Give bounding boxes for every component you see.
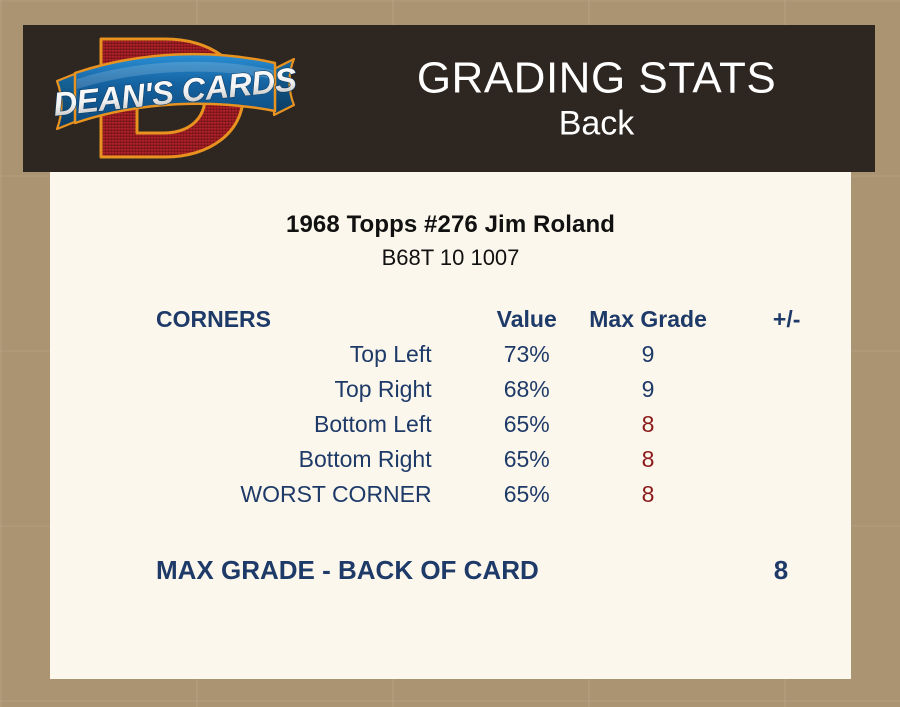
corner-max-grade: 9	[574, 372, 723, 407]
page-title: GRADING STATS	[318, 55, 875, 102]
deans-cards-logo-icon: DEAN'S CARDS	[53, 29, 298, 169]
corner-max-grade: 8	[574, 442, 723, 477]
table-header: CORNERS Value Max Grade +/-	[50, 302, 851, 337]
corner-plus-minus	[722, 477, 851, 512]
corner-value: 68%	[480, 372, 574, 407]
corner-value: 73%	[480, 337, 574, 372]
header-bar: DEAN'S CARDS GRADING STATS Back	[23, 25, 875, 172]
corner-value: 65%	[480, 477, 574, 512]
corner-plus-minus	[722, 407, 851, 442]
page-subtitle: Back	[318, 106, 875, 142]
corner-label: Bottom Left	[50, 407, 480, 442]
max-grade-summary: MAX GRADE - BACK OF CARD 8	[50, 555, 851, 586]
column-header-max-grade: Max Grade	[574, 302, 723, 337]
max-grade-value: 8	[711, 555, 851, 586]
corner-plus-minus	[722, 442, 851, 477]
grading-stats-table: CORNERS Value Max Grade +/- Top Left73%9…	[50, 302, 851, 512]
corner-value: 65%	[480, 407, 574, 442]
column-header-corners: CORNERS	[50, 302, 480, 337]
corner-max-grade: 8	[574, 477, 723, 512]
table-row: WORST CORNER65%8	[50, 477, 851, 512]
deans-cards-logo: DEAN'S CARDS	[53, 29, 298, 169]
corner-label: Top Left	[50, 337, 480, 372]
table-body: Top Left73%9Top Right68%9Bottom Left65%8…	[50, 337, 851, 512]
table-row: Bottom Right65%8	[50, 442, 851, 477]
max-grade-label: MAX GRADE - BACK OF CARD	[50, 555, 539, 586]
table-row: Bottom Left65%8	[50, 407, 851, 442]
corner-max-grade: 9	[574, 337, 723, 372]
content-panel: 1968 Topps #276 Jim Roland B68T 10 1007 …	[50, 172, 851, 679]
card-title: 1968 Topps #276 Jim Roland	[50, 211, 851, 239]
header-titles: GRADING STATS Back	[318, 55, 875, 142]
logo-ribbon: DEAN'S CARDS	[53, 54, 298, 129]
corner-value: 65%	[480, 442, 574, 477]
corner-plus-minus	[722, 337, 851, 372]
corner-label: Top Right	[50, 372, 480, 407]
table-row: Top Left73%9	[50, 337, 851, 372]
corner-label: WORST CORNER	[50, 477, 480, 512]
corner-max-grade: 8	[574, 407, 723, 442]
corner-label: Bottom Right	[50, 442, 480, 477]
table-header-row: CORNERS Value Max Grade +/-	[50, 302, 851, 337]
corner-plus-minus	[722, 372, 851, 407]
card-heading: 1968 Topps #276 Jim Roland B68T 10 1007	[50, 172, 851, 271]
column-header-value: Value	[480, 302, 574, 337]
column-header-plus-minus: +/-	[722, 302, 851, 337]
table-row: Top Right68%9	[50, 372, 851, 407]
card-code: B68T 10 1007	[50, 245, 851, 271]
